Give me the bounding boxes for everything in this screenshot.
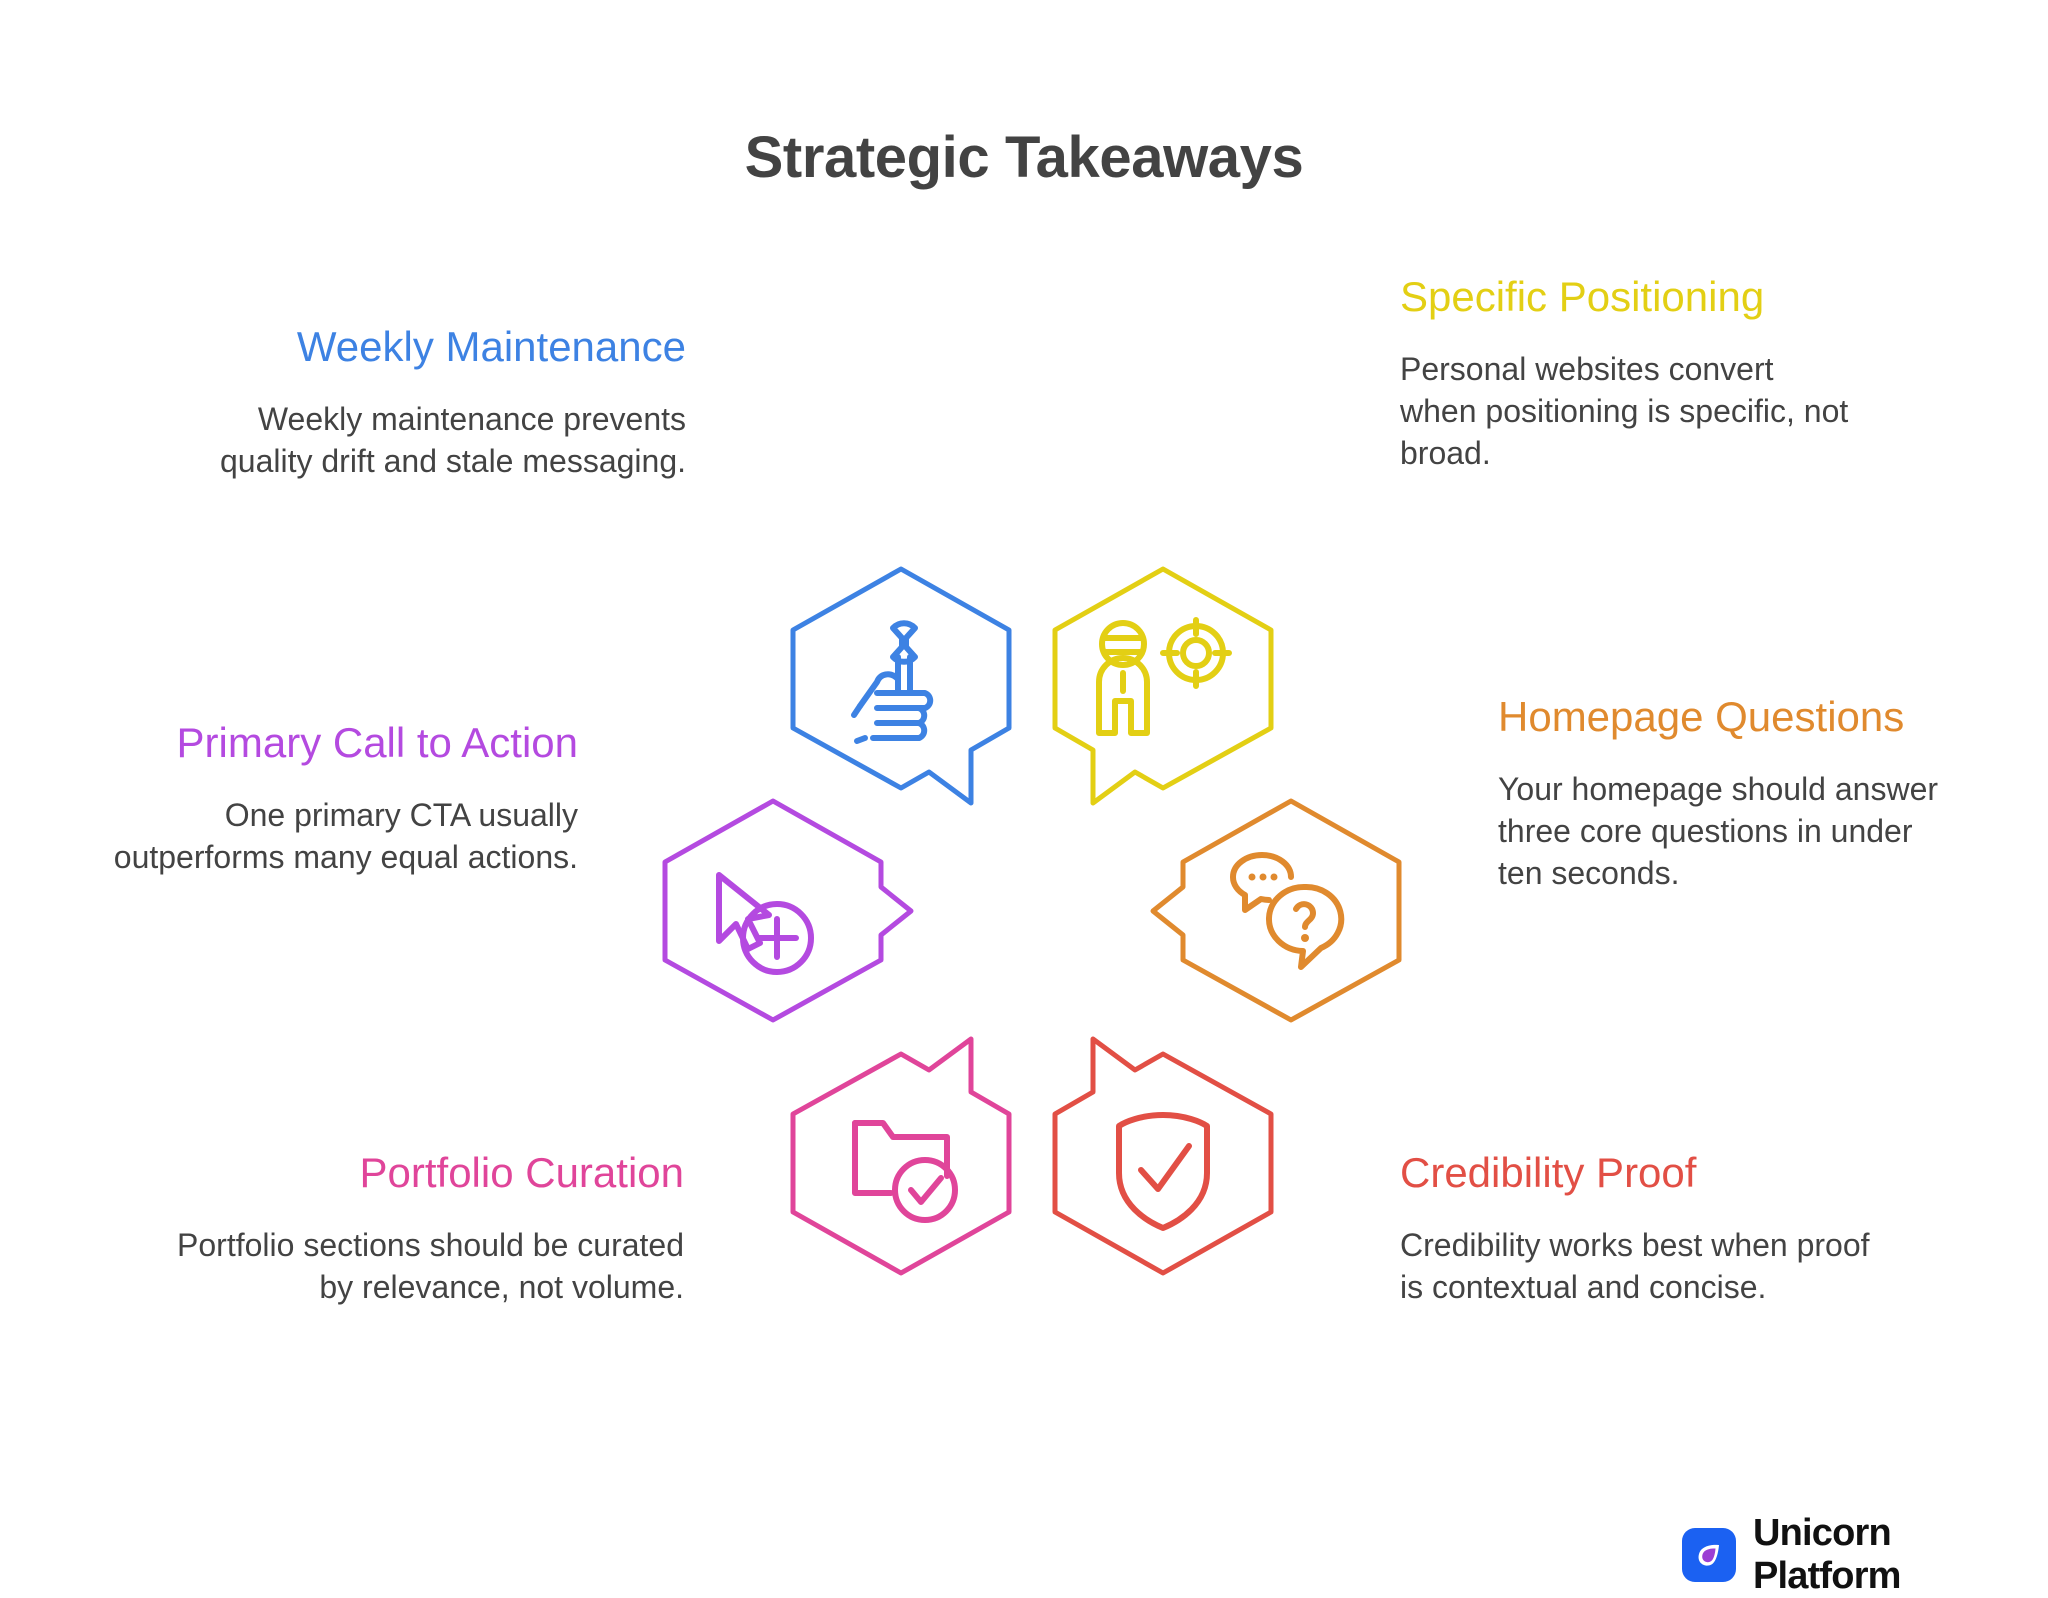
- hexagon-specific-positioning: [1047, 565, 1279, 815]
- takeaway-body-specific-positioning: Personal websites convert when positioni…: [1400, 348, 1850, 475]
- takeaway-block-homepage-questions: Homepage Questions Your homepage should …: [1498, 692, 1958, 894]
- takeaway-body-weekly-maintenance: Weekly maintenance prevents quality drif…: [186, 398, 686, 482]
- takeaway-block-specific-positioning: Specific Positioning Personal websites c…: [1400, 272, 1850, 474]
- takeaway-body-primary-cta: One primary CTA usually outperforms many…: [108, 794, 578, 878]
- speech-bubbles-question-icon: [1233, 855, 1341, 967]
- takeaway-heading-credibility-proof: Credibility Proof: [1400, 1148, 1870, 1198]
- hand-holding-wrench-icon: [854, 623, 930, 741]
- takeaway-body-portfolio-curation: Portfolio sections should be curated by …: [176, 1224, 684, 1308]
- takeaway-heading-weekly-maintenance: Weekly Maintenance: [186, 322, 686, 372]
- takeaway-block-credibility-proof: Credibility Proof Credibility works best…: [1400, 1148, 1870, 1308]
- unicorn-droplet-icon: [1682, 1528, 1736, 1582]
- shield-check-icon: [1119, 1115, 1207, 1228]
- takeaway-block-weekly-maintenance: Weekly Maintenance Weekly maintenance pr…: [186, 322, 686, 482]
- page-title: Strategic Takeaways: [0, 124, 2048, 191]
- takeaway-body-homepage-questions: Your homepage should answer three core q…: [1498, 768, 1958, 895]
- cursor-plus-icon: [719, 875, 811, 972]
- folder-check-icon: [855, 1123, 955, 1220]
- hexagon-credibility-proof: [1047, 1027, 1279, 1277]
- takeaway-body-credibility-proof: Credibility works best when proof is con…: [1400, 1224, 1870, 1308]
- hexagon-icon-cluster: [655, 565, 1415, 1295]
- takeaway-block-portfolio-curation: Portfolio Curation Portfolio sections sh…: [176, 1148, 684, 1308]
- hexagon-weekly-maintenance: [785, 565, 1017, 815]
- takeaway-block-primary-cta: Primary Call to Action One primary CTA u…: [108, 718, 578, 878]
- takeaway-heading-primary-cta: Primary Call to Action: [108, 718, 578, 768]
- hexagon-portfolio-curation: [785, 1027, 1017, 1277]
- hexagon-homepage-questions: [1175, 797, 1407, 1047]
- takeaway-heading-homepage-questions: Homepage Questions: [1498, 692, 1958, 742]
- brand-logo: Unicorn Platform: [1682, 1512, 2048, 1598]
- hexagon-primary-cta: [657, 797, 889, 1047]
- takeaway-heading-portfolio-curation: Portfolio Curation: [176, 1148, 684, 1198]
- person-target-icon: [1099, 620, 1229, 733]
- brand-name: Unicorn Platform: [1753, 1512, 2048, 1598]
- takeaway-heading-specific-positioning: Specific Positioning: [1400, 272, 1850, 322]
